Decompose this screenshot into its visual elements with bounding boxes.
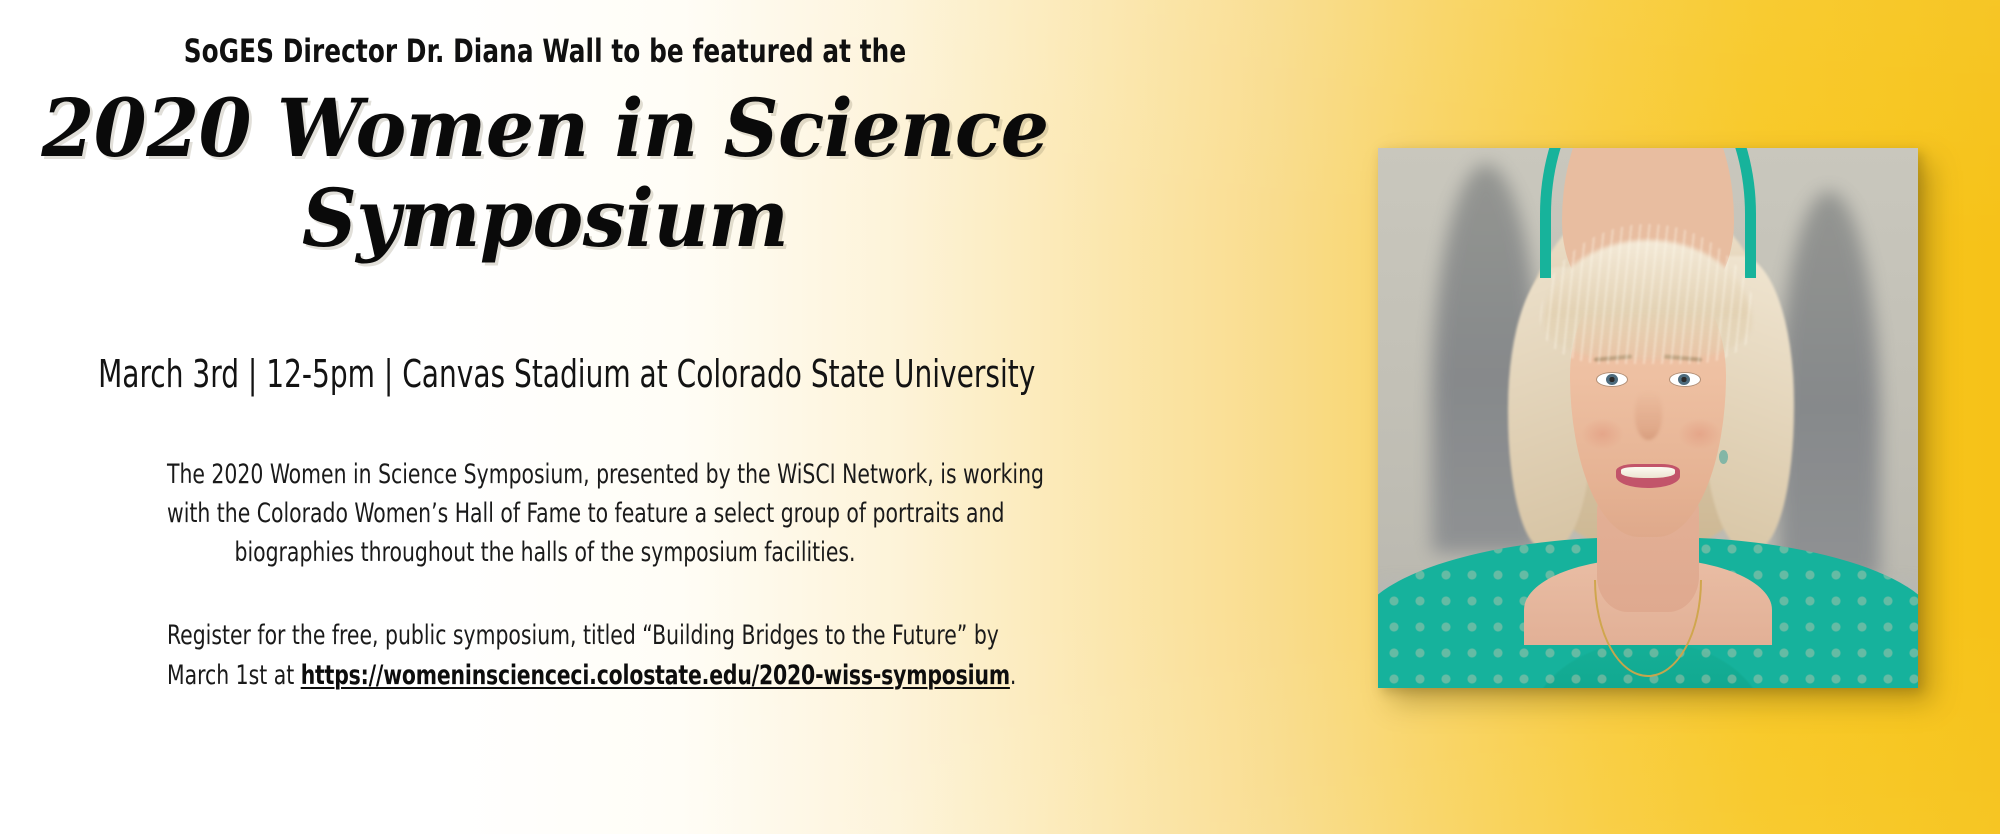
body-paragraph-2: Register for the free, public symposium,… [167,616,923,694]
paragraph-2-line-1: Register for the free, public symposium,… [167,616,923,655]
banner-headline: 2020 Women in Science Symposium [27,84,1063,263]
headline-line-1: 2020 Women in Science [27,84,1063,174]
paragraph-1-line-2: with the Colorado Women’s Hall of Fame t… [167,494,923,533]
portrait-photo [1378,148,1918,688]
event-promo-banner: SoGES Director Dr. Diana Wall to be feat… [0,0,2000,834]
paragraph-1-line-1: The 2020 Women in Science Symposium, pre… [167,455,923,494]
portrait-nose [1635,391,1662,440]
banner-text-column: SoGES Director Dr. Diana Wall to be feat… [0,0,1090,834]
portrait-teeth [1621,467,1675,479]
registration-suffix: . [1010,660,1016,691]
registration-prefix: March 1st at [167,660,301,691]
portrait-cheek-left [1581,418,1624,450]
body-paragraph-1: The 2020 Women in Science Symposium, pre… [167,455,923,572]
banner-body-copy: The 2020 Women in Science Symposium, pre… [95,455,995,695]
event-details-line: March 3rd | 12-5pm | Canvas Stadium at C… [98,352,992,396]
portrait-iris-right [1678,374,1690,385]
portrait-cheek-right [1678,418,1721,450]
paragraph-1-line-3: biographies throughout the halls of the … [167,533,923,572]
banner-kicker-text: SoGES Director Dr. Diana Wall to be feat… [76,32,1013,70]
headline-line-2: Symposium [27,174,1063,264]
paragraph-2-line-2: March 1st at https://womeninscienceci.co… [167,656,923,695]
registration-url-link[interactable]: https://womeninscienceci.colostate.edu/2… [301,660,1010,691]
portrait-photo-frame [1378,148,1918,688]
